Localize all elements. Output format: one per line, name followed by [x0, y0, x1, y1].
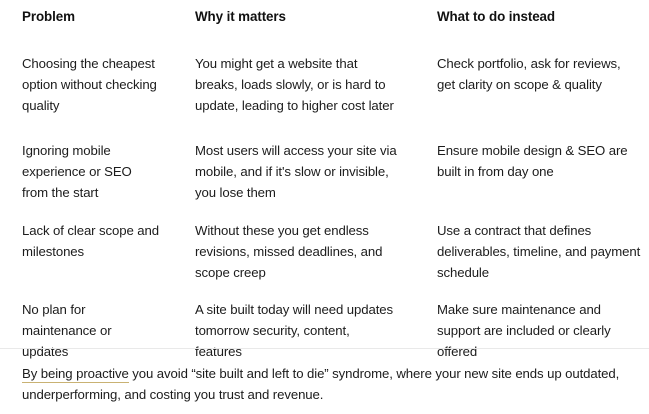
cell-why: Most users will access your site via mob…: [173, 140, 415, 220]
table-body: Choosing the cheapest option without che…: [0, 53, 649, 362]
cell-problem: Lack of clear scope and milestones: [0, 220, 173, 299]
cell-fix: Ensure mobile design & SEO are built in …: [415, 140, 649, 220]
clipped-next-line: [22, 409, 622, 414]
cell-fix: Check portfolio, ask for reviews, get cl…: [415, 53, 649, 140]
table-header-row: Problem Why it matters What to do instea…: [0, 6, 649, 53]
table-header: Problem Why it matters What to do instea…: [0, 6, 649, 53]
comparison-table: Problem Why it matters What to do instea…: [0, 6, 649, 362]
column-header-what-to-do-instead: What to do instead: [415, 6, 649, 53]
column-header-problem: Problem: [0, 6, 173, 53]
table-row: Ignoring mobile experience or SEO from t…: [0, 140, 649, 220]
table-row: Lack of clear scope and milestones Witho…: [0, 220, 649, 299]
cell-why: You might get a website that breaks, loa…: [173, 53, 415, 140]
grammar-flagged-phrase: By being proactive: [22, 366, 129, 383]
cell-problem: Choosing the cheapest option without che…: [0, 53, 173, 140]
cell-why: Without these you get endless revisions,…: [173, 220, 415, 299]
cell-fix: Use a contract that defines deliverables…: [415, 220, 649, 299]
footer-section: By being proactive you avoid “site built…: [0, 348, 649, 405]
table-row: Choosing the cheapest option without che…: [0, 53, 649, 140]
document-page: Problem Why it matters What to do instea…: [0, 0, 649, 414]
column-header-why-it-matters: Why it matters: [173, 6, 415, 53]
footer-paragraph: By being proactive you avoid “site built…: [0, 349, 649, 405]
cell-problem: Ignoring mobile experience or SEO from t…: [0, 140, 173, 220]
